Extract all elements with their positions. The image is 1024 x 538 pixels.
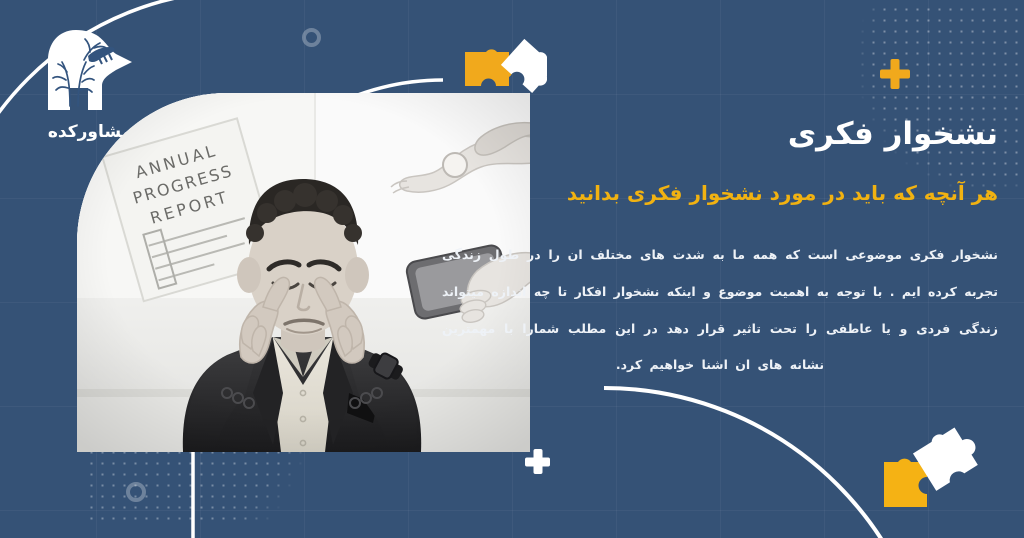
puzzle-pair-top — [459, 31, 547, 99]
plus-icon-gold — [880, 59, 910, 89]
page-subtitle: هر آنچه که باید در مورد نشخوار فکری بدان… — [442, 180, 998, 207]
puzzle-piece-gold-icon — [884, 459, 927, 507]
circle-outline-top — [302, 28, 321, 47]
copy-block: نشخوار فکری هر آنچه که باید در مورد نشخو… — [442, 115, 998, 384]
head-with-plants-icon — [40, 26, 140, 118]
plus-icon-white — [525, 449, 550, 474]
page-title: نشخوار فکری — [442, 115, 998, 154]
puzzle-pair-bottom — [876, 422, 1006, 520]
brand-logo[interactable]: مشاورکده — [34, 26, 146, 142]
circle-outline-bottom — [126, 482, 146, 502]
puzzle-piece-white-icon — [911, 422, 985, 491]
body-paragraph: نشخوار فکری موضوعی است که همه ما به شدت … — [442, 237, 998, 385]
puzzle-piece-white-icon — [501, 37, 547, 95]
banner-canvas: مشاورکده — [0, 0, 1024, 538]
